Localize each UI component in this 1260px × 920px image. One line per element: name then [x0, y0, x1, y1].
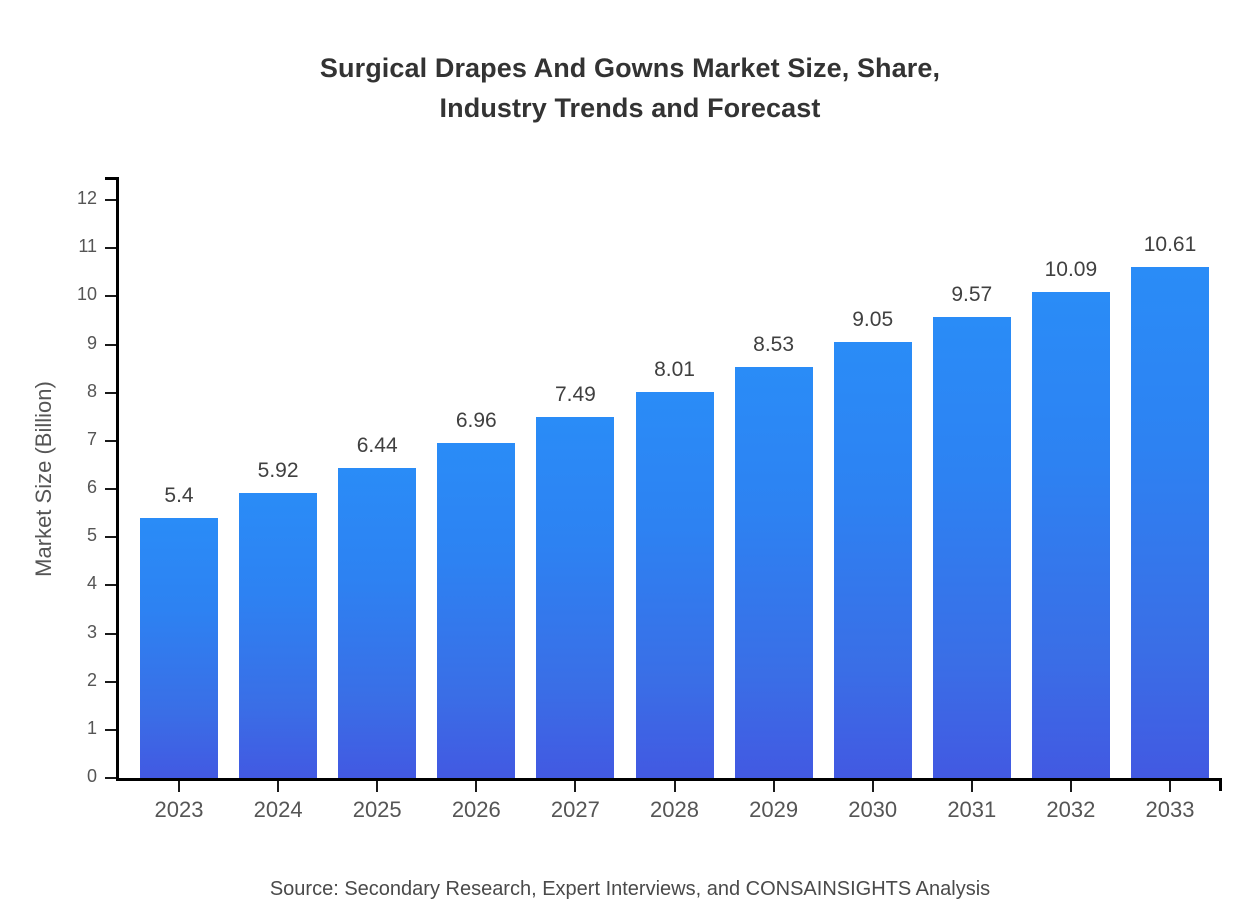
y-axis-tick: 1 — [105, 729, 116, 731]
page-title: Surgical Drapes And Gowns Market Size, S… — [0, 48, 1260, 128]
x-axis-label-2026: 2026 — [452, 797, 501, 823]
x-axis-label-2024: 2024 — [254, 797, 303, 823]
y-axis-tick-label: 4 — [87, 573, 97, 594]
bar-2023[interactable] — [140, 518, 218, 778]
bar-value-label-2029: 8.53 — [753, 333, 794, 357]
x-axis-label-2033: 2033 — [1146, 797, 1195, 823]
y-axis-title: Market Size (Billion) — [22, 177, 66, 781]
y-axis-tick-label: 1 — [87, 718, 97, 739]
y-axis-tick-label: 10 — [77, 284, 97, 305]
y-axis-tick: 8 — [105, 392, 116, 394]
bar-2028[interactable] — [636, 392, 714, 778]
x-axis-tick-2032 — [1070, 781, 1072, 792]
bar-value-label-2025: 6.44 — [357, 434, 398, 458]
bar-2030[interactable] — [834, 342, 912, 778]
x-axis-end-cap — [1219, 778, 1222, 791]
bar-value-label-2030: 9.05 — [852, 308, 893, 332]
bar-value-label-2023: 5.4 — [164, 484, 193, 508]
x-axis-label-2029: 2029 — [749, 797, 798, 823]
y-axis-tick: 7 — [105, 440, 116, 442]
page-title-line-2: Industry Trends and Forecast — [0, 88, 1260, 128]
chart-plot-area: 0123456789101112 5.45.926.446.967.498.01… — [116, 177, 1222, 781]
x-axis-tick-2024 — [277, 781, 279, 792]
x-axis-tick-2033 — [1169, 781, 1171, 792]
bar-value-label-2028: 8.01 — [654, 358, 695, 382]
y-axis-line — [116, 177, 119, 781]
x-axis-label-2023: 2023 — [155, 797, 204, 823]
y-axis-top-cap — [105, 177, 119, 180]
y-axis-tick-label: 9 — [87, 333, 97, 354]
x-axis-line — [116, 778, 1222, 781]
y-axis-tick: 4 — [105, 584, 116, 586]
y-axis-tick: 2 — [105, 681, 116, 683]
y-axis-tick-label: 8 — [87, 381, 97, 402]
x-axis-label-2027: 2027 — [551, 797, 600, 823]
y-axis-tick-label: 3 — [87, 622, 97, 643]
source-note: Source: Secondary Research, Expert Inter… — [0, 878, 1260, 901]
bar-value-label-2024: 5.92 — [258, 459, 299, 483]
x-axis-tick-2026 — [475, 781, 477, 792]
bar-2032[interactable] — [1032, 292, 1110, 778]
x-axis-label-2031: 2031 — [947, 797, 996, 823]
y-axis-tick: 3 — [105, 633, 116, 635]
y-axis-tick: 6 — [105, 488, 116, 490]
y-axis-tick: 9 — [105, 344, 116, 346]
x-axis-tick-2031 — [971, 781, 973, 792]
bar-value-label-2032: 10.09 — [1045, 258, 1098, 282]
y-axis-tick: 12 — [105, 199, 116, 201]
y-axis-tick: 10 — [105, 295, 116, 297]
x-axis-label-2032: 2032 — [1046, 797, 1095, 823]
x-axis-tick-2030 — [872, 781, 874, 792]
bar-2033[interactable] — [1131, 267, 1209, 778]
bar-value-label-2031: 9.57 — [951, 283, 992, 307]
bar-2024[interactable] — [239, 493, 317, 778]
bar-value-label-2033: 10.61 — [1144, 233, 1197, 257]
x-axis-tick-2029 — [773, 781, 775, 792]
bar-2029[interactable] — [735, 367, 813, 778]
y-axis-tick-label: 12 — [77, 188, 97, 209]
x-axis-tick-2027 — [574, 781, 576, 792]
x-axis-label-2028: 2028 — [650, 797, 699, 823]
y-axis-tick-label: 6 — [87, 477, 97, 498]
page-title-line-1: Surgical Drapes And Gowns Market Size, S… — [0, 48, 1260, 88]
x-axis-label-2025: 2025 — [353, 797, 402, 823]
y-axis-tick-label: 7 — [87, 429, 97, 450]
bar-2031[interactable] — [933, 317, 1011, 778]
y-axis-tick: 11 — [105, 247, 116, 249]
bar-value-label-2027: 7.49 — [555, 383, 596, 407]
y-axis-tick: 0 — [105, 777, 116, 779]
bar-2025[interactable] — [338, 468, 416, 778]
y-axis-tick: 5 — [105, 536, 116, 538]
bar-value-label-2026: 6.96 — [456, 409, 497, 433]
x-axis-tick-2023 — [178, 781, 180, 792]
y-axis-tick-label: 2 — [87, 670, 97, 691]
x-axis-tick-2028 — [674, 781, 676, 792]
x-axis-label-2030: 2030 — [848, 797, 897, 823]
x-axis-tick-2025 — [376, 781, 378, 792]
y-axis-tick-label: 11 — [78, 236, 97, 257]
y-axis-tick-label: 5 — [87, 525, 97, 546]
bar-2027[interactable] — [536, 417, 614, 778]
y-axis-tick-label: 0 — [87, 766, 97, 787]
bar-2026[interactable] — [437, 443, 515, 778]
